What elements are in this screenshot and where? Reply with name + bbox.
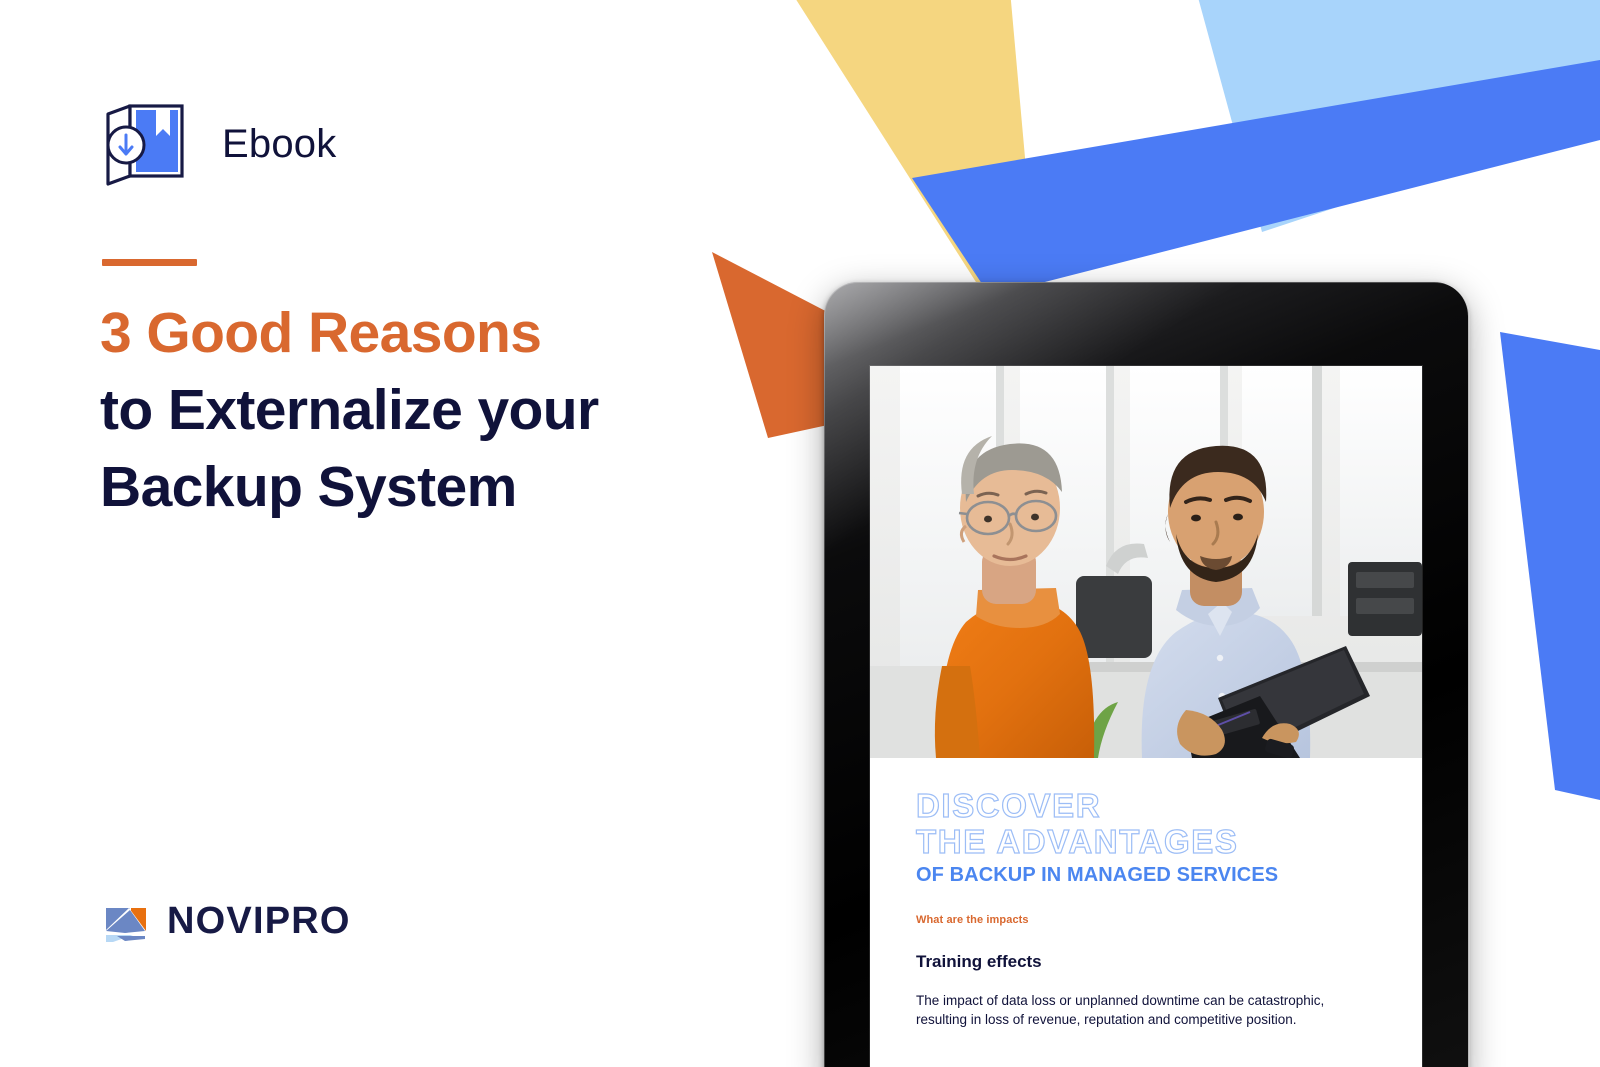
headline-line-2: to Externalize your — [100, 372, 660, 449]
ebook-badge: Ebook — [100, 98, 336, 190]
tablet-device: DISCOVER THE ADVANTAGES OF BACKUP IN MAN… — [824, 282, 1468, 1067]
ebook-download-icon — [100, 98, 196, 190]
document-title-line-1: DISCOVER — [916, 788, 1376, 824]
document-paragraph: The impact of data loss or unplanned dow… — [916, 991, 1376, 1029]
headline-line-3: Backup System — [100, 449, 660, 526]
document-hero-photo — [870, 366, 1422, 758]
document-section-heading: Training effects — [916, 952, 1376, 972]
royal-blue-shape-right — [1500, 332, 1600, 800]
tablet-screen: DISCOVER THE ADVANTAGES OF BACKUP IN MAN… — [870, 366, 1422, 1067]
page-title: 3 Good Reasons to Externalize your Backu… — [100, 295, 660, 526]
ebook-badge-label: Ebook — [222, 122, 336, 167]
accent-divider — [102, 259, 197, 266]
document-subtitle: OF BACKUP IN MANAGED SERVICES — [916, 864, 1376, 887]
left-content-panel: Ebook 3 Good Reasons to Externalize your… — [0, 0, 700, 1067]
novipro-logo: NOVIPRO — [103, 898, 351, 944]
headline-line-1: 3 Good Reasons — [100, 295, 660, 372]
document-kicker: What are the impacts — [916, 914, 1376, 926]
promotional-ebook-banner: Ebook 3 Good Reasons to Externalize your… — [0, 0, 1600, 1067]
novipro-wordmark: NOVIPRO — [167, 900, 351, 943]
novipro-logo-mark — [103, 898, 149, 944]
document-body: DISCOVER THE ADVANTAGES OF BACKUP IN MAN… — [870, 758, 1422, 1029]
document-title-line-2: THE ADVANTAGES — [916, 824, 1376, 860]
